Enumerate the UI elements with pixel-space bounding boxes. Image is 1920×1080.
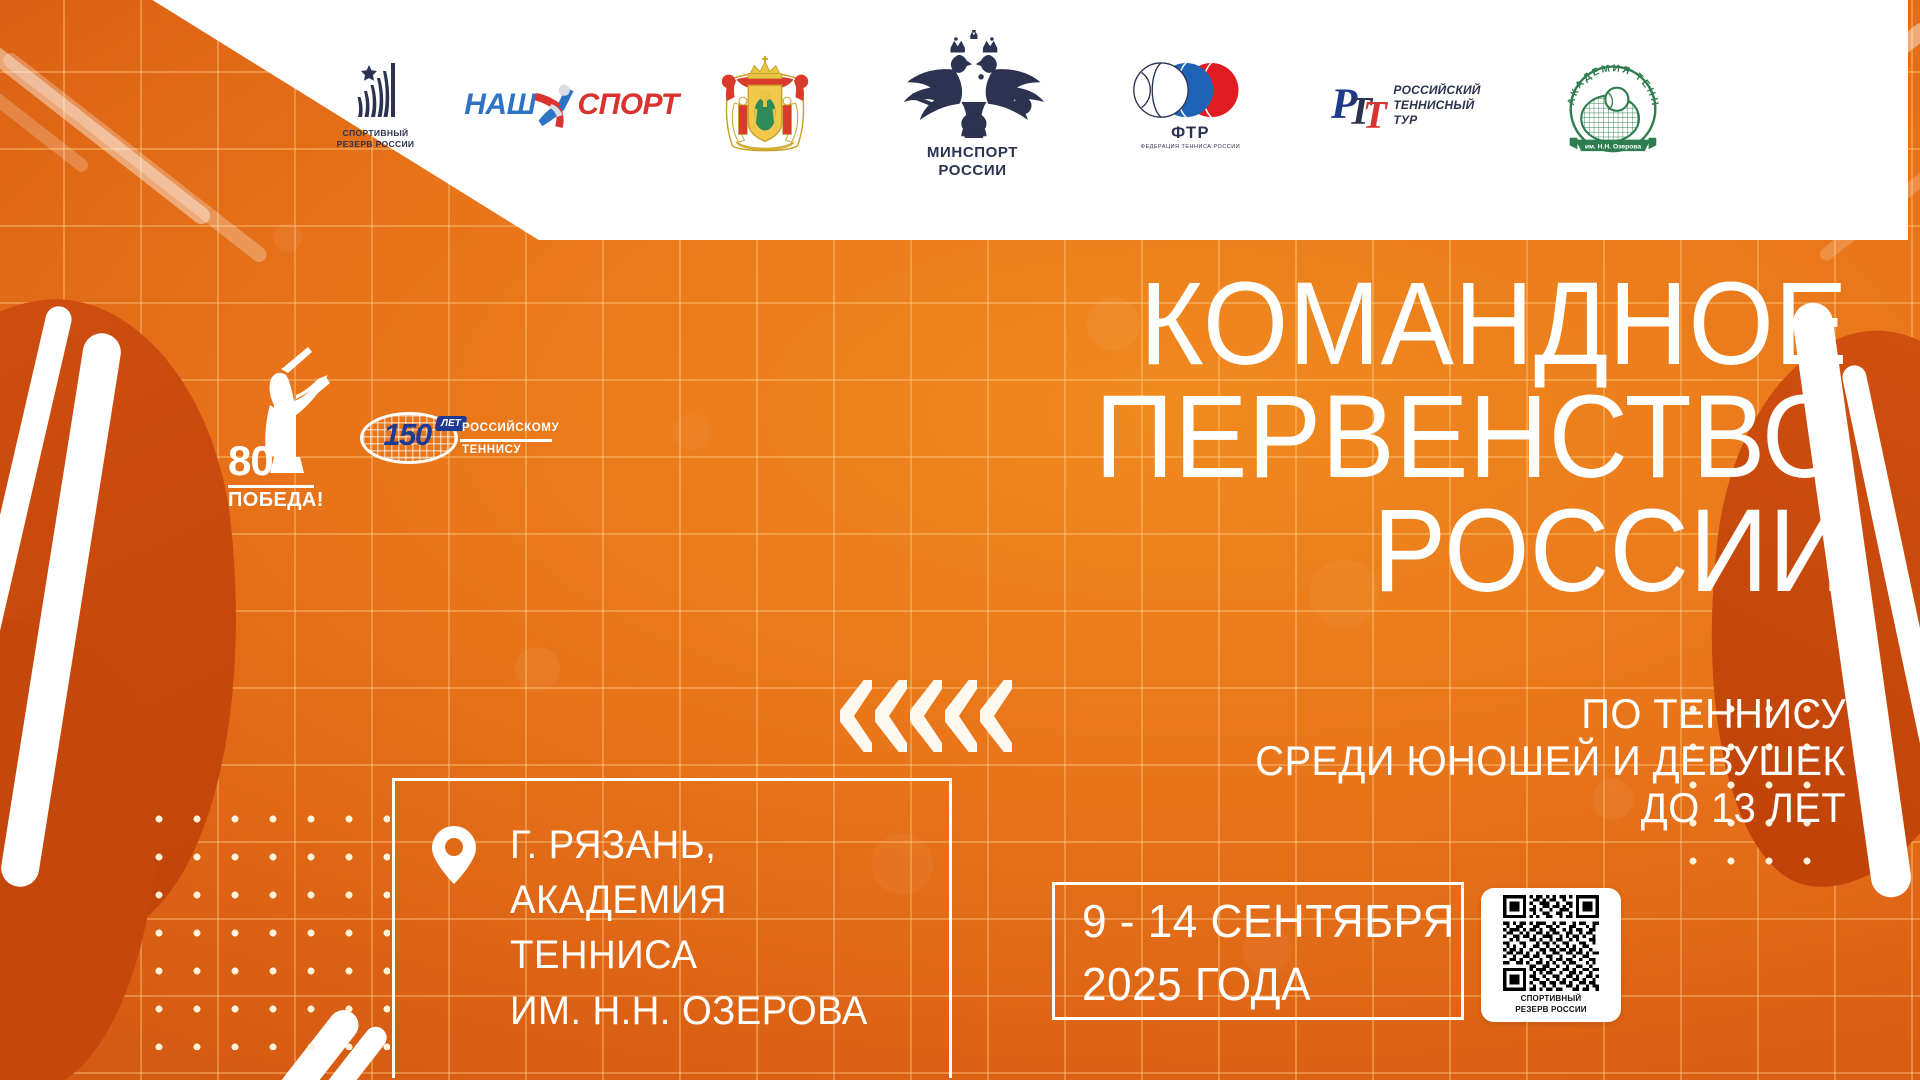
logo-sport-reserve-caption-line1: СПОРТИВНЫЙ [343, 128, 409, 138]
qr-caption-line2: РЕЗЕРВ РОССИИ [1515, 1005, 1586, 1014]
victory-80-rule [228, 485, 314, 488]
anniversary-150-badge: 150 ЛЕТ РОССИЙСКОМУ ТЕННИСУ [360, 408, 552, 468]
logo-ryazan-coat-of-arms [710, 52, 820, 158]
logo-tennis-academy: АКАДЕМИЯ ТЕННИСА им. Н.Н. Озерова [1557, 55, 1669, 155]
svg-text:Т: Т [1363, 93, 1389, 135]
venue-line4: ИМ. Н.Н. ОЗЕРОВА [510, 984, 868, 1039]
headline-line3: РОССИИ [806, 495, 1848, 608]
qr-caption-line1: СПОРТИВНЫЙ [1521, 994, 1582, 1003]
logo-minsport-russia: МИНСПОРТ РОССИИ [878, 30, 1068, 179]
subtitle-line1: ПО ТЕННИСУ [991, 690, 1846, 737]
logo-rtt-caption-line1: РОССИЙСКИЙ [1393, 83, 1480, 97]
running-figure-icon [533, 80, 579, 130]
event-dates: 9 - 14 СЕНТЯБРЯ 2025 ГОДА [1082, 890, 1455, 1017]
logo-nash-sport-word1: НАШ [464, 88, 535, 122]
venue-address: Г. РЯЗАНЬ, АКАДЕМИЯ ТЕННИСА ИМ. Н.Н. ОЗЕ… [510, 818, 868, 1039]
logo-minsport-caption-line1: МИНСПОРТ [927, 144, 1018, 161]
chevron-left-icon [840, 680, 872, 752]
venue-line3: ТЕННИСА [510, 928, 868, 983]
chevron-left-icon [875, 680, 907, 752]
chevron-left-icon [945, 680, 977, 752]
headline-line2: ПЕРВЕНСТВО [806, 381, 1848, 494]
logo-minsport-caption: МИНСПОРТ РОССИИ [927, 144, 1018, 179]
logo-ftr: ФТР ФЕДЕРАЦИЯ ТЕННИСА РОССИИ [1126, 61, 1256, 150]
chevron-left-icon [910, 680, 942, 752]
anniversary-caption-line1: РОССИЙСКОМУ [462, 422, 559, 434]
sport-reserve-icon [339, 61, 413, 123]
event-poster: СПОРТИВНЫЙ РЕЗЕРВ РОССИИ НАШ СПОРТ [0, 0, 1920, 1080]
logo-rtt-caption-line3: ТУР [1393, 113, 1417, 127]
double-headed-eagle-icon [887, 30, 1059, 138]
logo-rtt-caption: РОССИЙСКИЙ ТЕННИСНЫЙ ТУР [1393, 83, 1480, 128]
nash-sport-wordmark: НАШ СПОРТ [464, 80, 678, 130]
subtitle-line2: СРЕДИ ЮНОШЕЙ И ДЕВУШЕК [991, 737, 1846, 784]
svg-text:им. Н.Н. Озерова: им. Н.Н. Озерова [1584, 143, 1641, 150]
qr-code-badge[interactable]: СПОРТИВНЫЙ РЕЗЕРВ РОССИИ [1481, 888, 1621, 1022]
decorative-dot-grid-left [140, 800, 390, 1050]
victory-80-word: ПОБЕДА! [228, 489, 324, 512]
anniversary-underline [460, 439, 552, 442]
qr-code-icon[interactable] [1503, 895, 1599, 991]
event-subtitle: ПО ТЕННИСУ СРЕДИ ЮНОШЕЙ И ДЕВУШЕК ДО 13 … [991, 690, 1846, 831]
ryazan-coat-of-arms-icon [711, 52, 819, 158]
headline-line1: КОМАНДНОЕ [806, 268, 1848, 381]
qr-code-caption: СПОРТИВНЫЙ РЕЗЕРВ РОССИИ [1515, 994, 1586, 1015]
location-pin-icon [432, 826, 476, 884]
date-line2: 2025 ГОДА [1082, 953, 1455, 1016]
logo-rtt: Р Т Т РОССИЙСКИЙ ТЕННИСНЫЙ ТУР [1314, 75, 1499, 135]
anniversary-150-number: 150 [368, 419, 446, 450]
date-line1: 9 - 14 СЕНТЯБРЯ [1082, 890, 1455, 953]
logo-sport-reserve-caption-line2: РЕЗЕРВ РОССИИ [337, 139, 415, 149]
logo-sport-reserve-caption: СПОРТИВНЫЙ РЕЗЕРВ РОССИИ [337, 128, 415, 149]
event-headline: КОМАНДНОЕ ПЕРВЕНСТВО РОССИИ [806, 268, 1848, 608]
logo-rtt-caption-line2: ТЕННИСНЫЙ [1393, 98, 1474, 112]
tennis-academy-icon: АКАДЕМИЯ ТЕННИСА им. Н.Н. Озерова [1560, 55, 1666, 155]
logo-minsport-caption-line2: РОССИИ [938, 162, 1006, 179]
sponsor-logo-strip: СПОРТИВНЫЙ РЕЗЕРВ РОССИИ НАШ СПОРТ [148, 10, 1838, 200]
victory-80-badge: 80 ПОБЕДА! [226, 345, 330, 510]
logo-nash-sport-word2: СПОРТ [577, 88, 678, 122]
anniversary-caption-line2: ТЕННИСУ [462, 444, 521, 456]
logo-nash-sport: НАШ СПОРТ [492, 80, 652, 130]
ftr-tennis-balls-icon [1128, 61, 1254, 123]
logo-ftr-abbr: ФТР [1171, 124, 1210, 143]
victory-80-number: 80 [228, 440, 273, 482]
chevron-decoration [840, 680, 1012, 752]
venue-line1: Г. РЯЗАНЬ, [510, 818, 868, 873]
logo-sport-reserve-russia: СПОРТИВНЫЙ РЕЗЕРВ РОССИИ [318, 61, 434, 149]
rtt-monogram-icon: Р Т Т [1331, 75, 1389, 135]
venue-line2: АКАДЕМИЯ [510, 873, 868, 928]
logo-ftr-subtitle: ФЕДЕРАЦИЯ ТЕННИСА РОССИИ [1141, 144, 1240, 150]
subtitle-line3: ДО 13 ЛЕТ [991, 784, 1846, 831]
venue-info: Г. РЯЗАНЬ, АКАДЕМИЯ ТЕННИСА ИМ. Н.Н. ОЗЕ… [432, 818, 883, 1039]
